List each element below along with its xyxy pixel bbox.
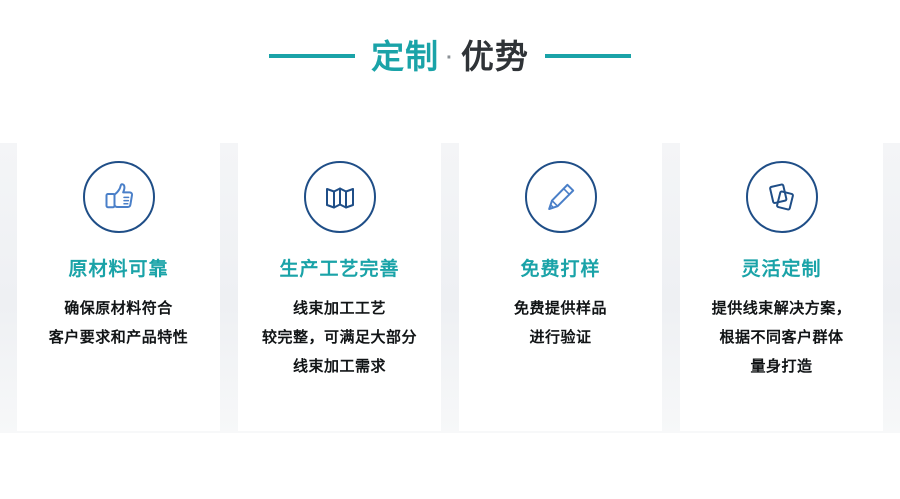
title-text: 定制 · 优势 <box>371 40 529 73</box>
description-line: 提供线束解决方案， <box>712 294 852 323</box>
description-line: 客户要求和产品特性 <box>49 323 189 352</box>
feature-card-title: 灵活定制 <box>741 259 821 282</box>
feature-card-description: 确保原材料符合 客户要求和产品特性 <box>43 294 195 352</box>
description-line: 线束加工工艺 <box>262 294 417 323</box>
pencil-icon <box>525 161 597 233</box>
feature-card[interactable]: 生产工艺完善 线束加工工艺 较完整，可满足大部分 线束加工需求 <box>238 143 441 431</box>
feature-card[interactable]: 免费打样 免费提供样品 进行验证 <box>459 143 662 431</box>
feature-card-description: 免费提供样品 进行验证 <box>508 294 613 352</box>
description-line: 较完整，可满足大部分 <box>262 323 417 352</box>
feature-card[interactable]: 原材料可靠 确保原材料符合 客户要求和产品特性 <box>17 143 220 431</box>
feature-card-title: 生产工艺完善 <box>279 259 399 282</box>
description-line: 免费提供样品 <box>514 294 607 323</box>
description-line: 线束加工需求 <box>262 352 417 381</box>
title-rule-left <box>269 54 355 58</box>
feature-card-description: 线束加工工艺 较完整，可满足大部分 线束加工需求 <box>256 294 423 381</box>
stacked-cards-icon <box>746 161 818 233</box>
folded-map-icon <box>304 161 376 233</box>
description-line: 量身打造 <box>712 352 852 381</box>
title-rule-right <box>545 54 631 58</box>
feature-card-description: 提供线束解决方案， 根据不同客户群体 量身打造 <box>706 294 858 381</box>
feature-card-title: 原材料可靠 <box>68 259 168 282</box>
description-line: 进行验证 <box>514 323 607 352</box>
title-primary: 定制 <box>371 40 439 73</box>
description-line: 确保原材料符合 <box>49 294 189 323</box>
thumbs-up-icon <box>83 161 155 233</box>
feature-card-title: 免费打样 <box>520 259 600 282</box>
description-line: 根据不同客户群体 <box>712 323 852 352</box>
section-title: 定制 · 优势 <box>0 26 900 86</box>
feature-card[interactable]: 灵活定制 提供线束解决方案， 根据不同客户群体 量身打造 <box>680 143 883 431</box>
title-separator-dot: · <box>441 48 459 68</box>
title-secondary: 优势 <box>461 40 529 73</box>
feature-card-list: 原材料可靠 确保原材料符合 客户要求和产品特性 生产工艺完善 线束加工工艺 较完… <box>0 143 900 433</box>
